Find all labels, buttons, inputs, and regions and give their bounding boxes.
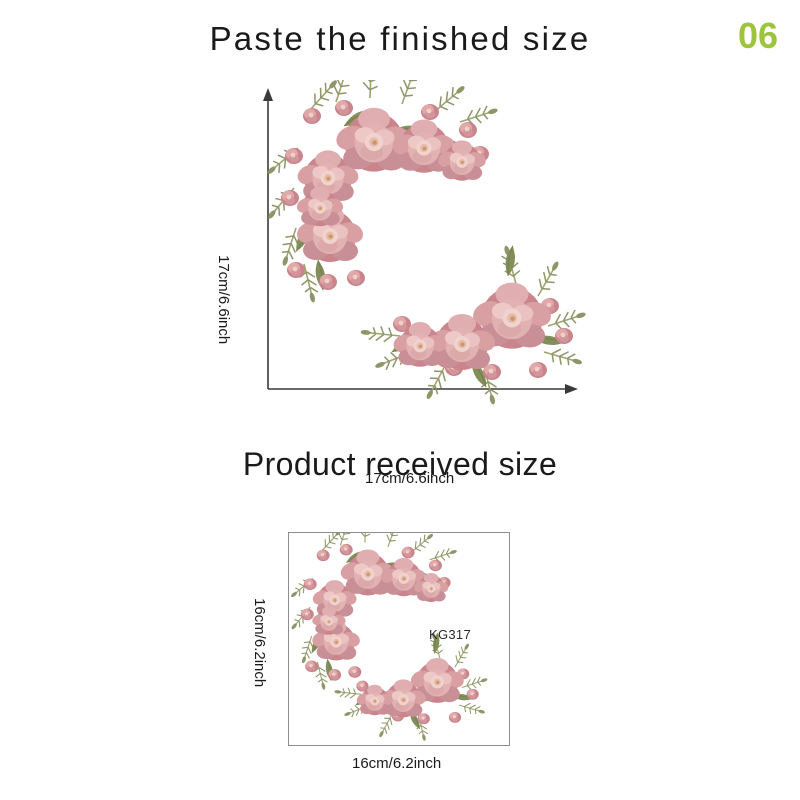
floral-corner-bottom-right-small xyxy=(333,632,489,742)
floral-corner-bottom-right xyxy=(359,244,588,405)
step-number-badge: 06 xyxy=(738,18,778,54)
product-sheet-panel: KG317 xyxy=(288,532,510,746)
height-dimension-label: 17cm/6.6inch xyxy=(215,255,232,344)
sheet-artwork xyxy=(289,533,509,745)
floral-corner-top-left xyxy=(261,80,500,304)
sheet-height-dimension-label: 16cm/6.2inch xyxy=(251,598,268,687)
dimension-axes xyxy=(0,80,800,420)
sku-label: KG317 xyxy=(429,627,471,642)
product-spec-sheet: Paste the finished size 06 xyxy=(0,0,800,800)
finished-size-diagram: 17cm/6.6inch 17cm/6.6inch xyxy=(0,80,800,420)
sheet-width-dimension-label: 16cm/6.2inch xyxy=(352,755,441,772)
page-title-finished-size: Paste the finished size xyxy=(0,20,800,58)
page-title-received-size: Product received size xyxy=(0,446,800,483)
